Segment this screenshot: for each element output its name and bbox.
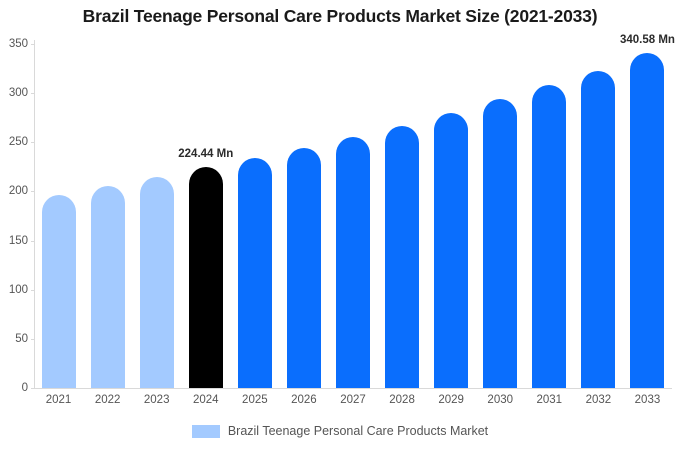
x-axis-tick-label: 2021 [34, 394, 84, 406]
y-axis-tick-label: 150 [0, 235, 28, 247]
x-axis-tick-label: 2023 [132, 394, 182, 406]
x-axis-line [34, 388, 672, 389]
bar-2026[interactable] [287, 148, 321, 388]
bar-2028[interactable] [385, 126, 419, 388]
x-axis-tick-label: 2022 [83, 394, 133, 406]
bar-2024[interactable] [189, 167, 223, 388]
legend: Brazil Teenage Personal Care Products Ma… [0, 424, 680, 438]
x-axis-tick-label: 2026 [279, 394, 329, 406]
x-axis-tick-label: 2027 [328, 394, 378, 406]
bar-2027[interactable] [336, 137, 370, 388]
y-axis-tick-label: 0 [0, 382, 28, 394]
x-axis-tick-label: 2028 [377, 394, 427, 406]
x-axis-tick-label: 2031 [524, 394, 574, 406]
legend-label: Brazil Teenage Personal Care Products Ma… [228, 424, 488, 438]
y-axis-tick-label: 300 [0, 87, 28, 99]
bar-2022[interactable] [91, 186, 125, 388]
y-axis-tick-label: 350 [0, 38, 28, 50]
x-axis-tick-label: 2029 [426, 394, 476, 406]
x-axis-tick-label: 2024 [181, 394, 231, 406]
bar-2031[interactable] [532, 85, 566, 388]
x-axis-tick-label: 2025 [230, 394, 280, 406]
y-axis-tick-label: 200 [0, 185, 28, 197]
bar-2023[interactable] [140, 177, 174, 388]
plot-area [34, 44, 672, 388]
x-axis-tick-label: 2033 [622, 394, 672, 406]
bar-2025[interactable] [238, 158, 272, 388]
chart-title: Brazil Teenage Personal Care Products Ma… [0, 6, 680, 27]
value-label-2024: 224.44 Mn [174, 148, 238, 160]
bar-chart: Brazil Teenage Personal Care Products Ma… [0, 0, 680, 450]
bar-2021[interactable] [42, 195, 76, 388]
bar-2029[interactable] [434, 113, 468, 388]
y-axis-tick-label: 100 [0, 284, 28, 296]
value-label-2033: 340.58 Mn [615, 34, 679, 46]
bar-2033[interactable] [630, 53, 664, 388]
bar-2032[interactable] [581, 71, 615, 388]
legend-swatch-icon [192, 425, 220, 438]
y-axis-tick-label: 250 [0, 136, 28, 148]
y-axis-tick-label: 50 [0, 333, 28, 345]
bar-2030[interactable] [483, 99, 517, 388]
x-axis-tick-label: 2030 [475, 394, 525, 406]
x-axis-tick-label: 2032 [573, 394, 623, 406]
